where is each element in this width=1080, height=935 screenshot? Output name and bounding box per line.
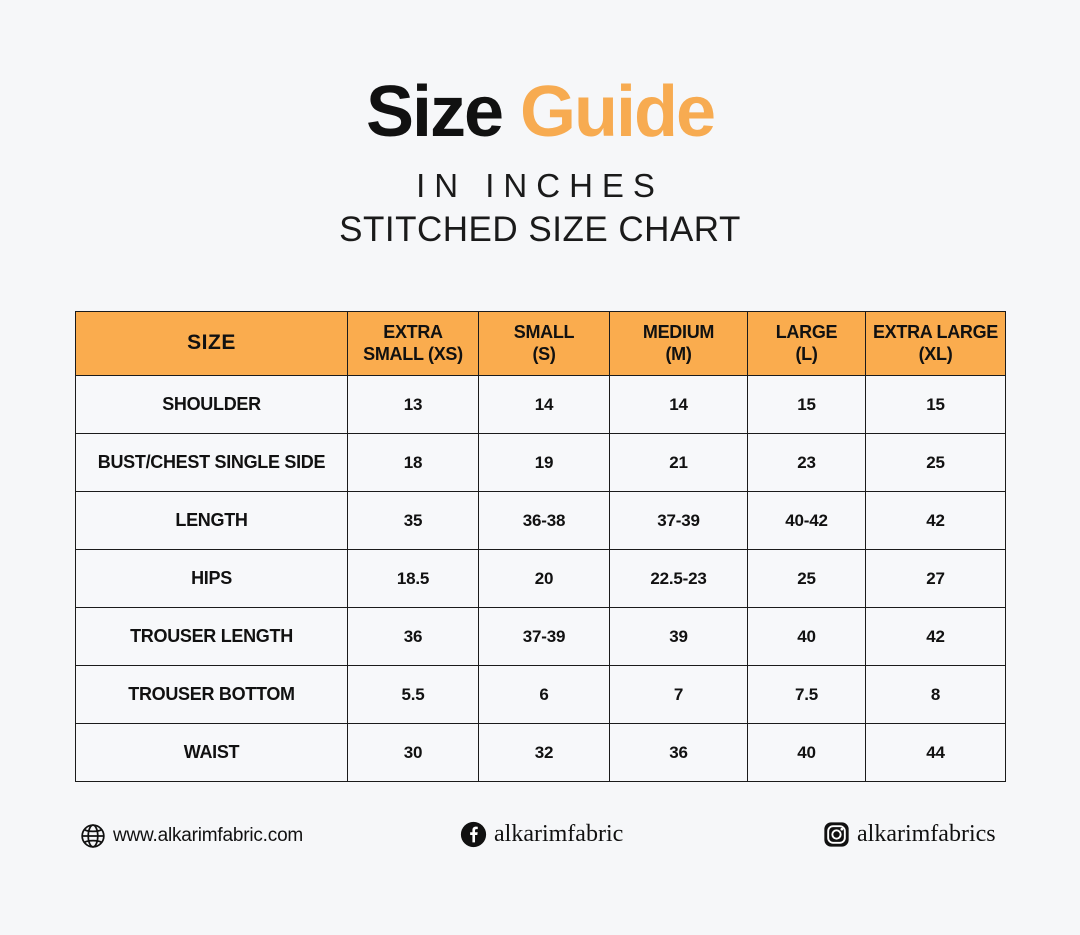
table-header-row: SIZE EXTRA SMALL (XS) SMALL (S) MEDIUM (…	[76, 312, 1006, 376]
cell-hips-m: 22.5-23	[610, 550, 748, 608]
cell-waist-xs: 30	[348, 724, 479, 782]
cell-trouser-length-s: 37-39	[479, 608, 610, 666]
row-label-trouser-bottom: TROUSER BOTTOM	[76, 666, 348, 724]
cell-hips-xs: 18.5	[348, 550, 479, 608]
cell-bust-xs: 18	[348, 434, 479, 492]
subtitle-chart: STITCHED SIZE CHART	[0, 211, 1080, 250]
cell-trouser-length-xs: 36	[348, 608, 479, 666]
table-body: SHOULDER 13 14 14 15 15 BUST/CHEST SINGL…	[76, 376, 1006, 782]
cell-bust-m: 21	[610, 434, 748, 492]
cell-hips-l: 25	[748, 550, 866, 608]
cell-trouser-length-l: 40	[748, 608, 866, 666]
row-label-hips: HIPS	[76, 550, 348, 608]
page-title-word-guide: Guide	[520, 72, 714, 152]
size-chart-table-container: SIZE EXTRA SMALL (XS) SMALL (S) MEDIUM (…	[75, 311, 1005, 782]
table-row: LENGTH 35 36-38 37-39 40-42 42	[76, 492, 1006, 550]
column-header-s-line1: SMALL	[514, 322, 575, 342]
footer-facebook-label: alkarimfabric	[494, 821, 623, 848]
column-header-xl-line2: (XL)	[919, 344, 953, 364]
cell-waist-s: 32	[479, 724, 610, 782]
row-label-shoulder: SHOULDER	[76, 376, 348, 434]
column-header-m-line1: MEDIUM	[643, 322, 714, 342]
footer-instagram-label: alkarimfabrics	[857, 821, 996, 848]
table-row: WAIST 30 32 36 40 44	[76, 724, 1006, 782]
table-header: SIZE EXTRA SMALL (XS) SMALL (S) MEDIUM (…	[76, 312, 1006, 376]
facebook-icon	[460, 821, 487, 848]
cell-waist-l: 40	[748, 724, 866, 782]
column-header-xs-line1: EXTRA	[383, 322, 443, 342]
cell-hips-xl: 27	[866, 550, 1006, 608]
table-row: SHOULDER 13 14 14 15 15	[76, 376, 1006, 434]
size-chart-table: SIZE EXTRA SMALL (XS) SMALL (S) MEDIUM (…	[75, 311, 1006, 782]
column-header-s-line2: (S)	[532, 344, 555, 364]
column-header-xs-line2: SMALL (XS)	[363, 344, 463, 364]
column-header-m: MEDIUM (M)	[610, 312, 748, 376]
cell-trouser-bottom-xs: 5.5	[348, 666, 479, 724]
cell-shoulder-xs: 13	[348, 376, 479, 434]
column-header-l-line1: LARGE	[776, 322, 838, 342]
table-row: TROUSER BOTTOM 5.5 6 7 7.5 8	[76, 666, 1006, 724]
cell-shoulder-s: 14	[479, 376, 610, 434]
subtitle-units: IN INCHES	[0, 168, 1080, 204]
cell-trouser-bottom-m: 7	[610, 666, 748, 724]
table-row: TROUSER LENGTH 36 37-39 39 40 42	[76, 608, 1006, 666]
cell-waist-m: 36	[610, 724, 748, 782]
cell-length-xs: 35	[348, 492, 479, 550]
cell-trouser-length-xl: 42	[866, 608, 1006, 666]
cell-shoulder-xl: 15	[866, 376, 1006, 434]
footer-website[interactable]: www.alkarimfabric.com	[80, 823, 303, 849]
row-label-bust-chest-single-side: BUST/CHEST SINGLE SIDE	[76, 434, 348, 492]
cell-length-xl: 42	[866, 492, 1006, 550]
column-header-size-label: SIZE	[187, 331, 236, 354]
column-header-s: SMALL (S)	[479, 312, 610, 376]
cell-bust-xl: 25	[866, 434, 1006, 492]
cell-hips-s: 20	[479, 550, 610, 608]
footer-website-label: www.alkarimfabric.com	[113, 825, 303, 847]
row-label-waist: WAIST	[76, 724, 348, 782]
title-block: Size Guide IN INCHES STITCHED SIZE CHART	[0, 0, 1080, 249]
cell-length-l: 40-42	[748, 492, 866, 550]
page-title: Size Guide	[0, 78, 1080, 146]
cell-bust-l: 23	[748, 434, 866, 492]
cell-bust-s: 19	[479, 434, 610, 492]
instagram-icon	[823, 821, 850, 848]
footer: www.alkarimfabric.com alkarimfabric alka…	[75, 815, 1005, 875]
cell-trouser-bottom-l: 7.5	[748, 666, 866, 724]
column-header-l: LARGE (L)	[748, 312, 866, 376]
cell-shoulder-m: 14	[610, 376, 748, 434]
column-header-size: SIZE	[76, 312, 348, 376]
column-header-l-line2: (L)	[795, 344, 817, 364]
cell-waist-xl: 44	[866, 724, 1006, 782]
footer-facebook[interactable]: alkarimfabric	[460, 821, 623, 848]
cell-length-m: 37-39	[610, 492, 748, 550]
cell-trouser-bottom-xl: 8	[866, 666, 1006, 724]
cell-shoulder-l: 15	[748, 376, 866, 434]
column-header-xs: EXTRA SMALL (XS)	[348, 312, 479, 376]
table-row: BUST/CHEST SINGLE SIDE 18 19 21 23 25	[76, 434, 1006, 492]
row-label-length: LENGTH	[76, 492, 348, 550]
footer-instagram[interactable]: alkarimfabrics	[823, 821, 996, 848]
cell-trouser-length-m: 39	[610, 608, 748, 666]
globe-icon	[80, 823, 106, 849]
column-header-xl: EXTRA LARGE (XL)	[866, 312, 1006, 376]
column-header-m-line2: (M)	[665, 344, 691, 364]
cell-trouser-bottom-s: 6	[479, 666, 610, 724]
cell-length-s: 36-38	[479, 492, 610, 550]
row-label-trouser-length: TROUSER LENGTH	[76, 608, 348, 666]
page-title-word-size: Size	[366, 72, 502, 152]
table-row: HIPS 18.5 20 22.5-23 25 27	[76, 550, 1006, 608]
column-header-xl-line1: EXTRA LARGE	[873, 322, 998, 342]
